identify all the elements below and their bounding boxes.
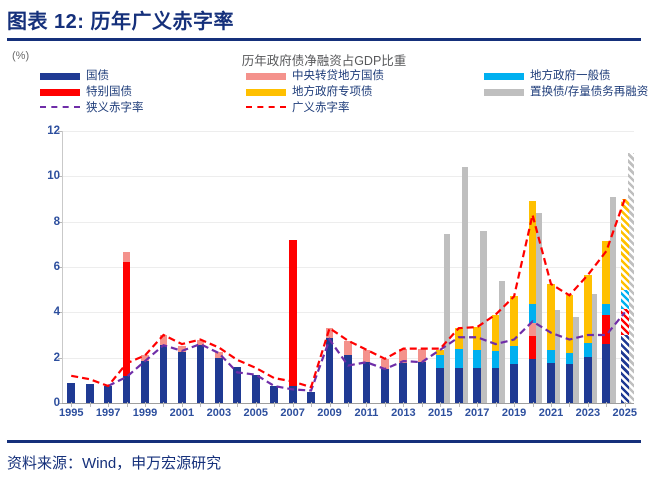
trend-line: [108, 312, 625, 390]
legend-label: 地方政府一般债: [530, 70, 611, 82]
x-tick-label: 2023: [576, 407, 600, 419]
x-tick-mark: [311, 402, 312, 407]
source-note: 资料来源：Wind，申万宏源研究: [7, 452, 221, 473]
x-tick-mark: [90, 402, 91, 407]
legend-label: 国债: [86, 70, 109, 82]
x-tick-label: 1995: [59, 407, 83, 419]
legend-column-2: 中央转贷地方国债地方政府专项债广义赤字率: [246, 68, 384, 116]
y-tick-label: 8: [20, 216, 68, 228]
y-tick-label: 10: [20, 170, 68, 182]
legend-label: 特别国债: [86, 86, 132, 98]
legend-item[interactable]: 广义赤字率: [246, 100, 384, 116]
legend-item[interactable]: 中央转贷地方国债: [246, 68, 384, 84]
y-tick-label: 12: [20, 125, 68, 137]
y-tick-label: 2: [20, 352, 68, 364]
legend-item[interactable]: 狭义赤字率: [40, 100, 144, 116]
x-tick-mark: [200, 402, 201, 407]
chart-legend: 国债特别国债狭义赤字率 中央转贷地方国债地方政府专项债广义赤字率 地方政府一般债…: [0, 68, 648, 116]
x-tick-label: 2015: [428, 407, 452, 419]
legend-label: 狭义赤字率: [86, 102, 144, 114]
x-tick-mark: [348, 402, 349, 407]
chart-subtitle: 历年政府债净融资占GDP比重: [0, 50, 648, 69]
x-tick-label: 2003: [207, 407, 231, 419]
x-tick-mark: [569, 402, 570, 407]
x-tick-label: 2007: [280, 407, 304, 419]
legend-item[interactable]: 国债: [40, 68, 144, 84]
page-title: 图表 12: 历年广义赤字率: [7, 5, 234, 34]
legend-dash-icon: [246, 106, 286, 108]
x-tick-mark: [533, 402, 534, 407]
y-tick-label: 4: [20, 306, 68, 318]
x-tick-label: 2025: [613, 407, 637, 419]
x-tick-label: 2019: [502, 407, 526, 419]
legend-item[interactable]: 地方政府专项债: [246, 84, 384, 100]
x-tick-label: 2021: [539, 407, 563, 419]
legend-label: 地方政府专项债: [292, 86, 373, 98]
header-divider: [7, 38, 641, 41]
legend-item[interactable]: 特别国债: [40, 84, 144, 100]
x-tick-label: 2017: [465, 407, 489, 419]
legend-dash-icon: [40, 106, 80, 108]
x-tick-mark: [163, 402, 164, 407]
x-axis-labels: 1995199719992001200320052007200920112013…: [62, 407, 634, 427]
footer-divider: [7, 440, 641, 443]
x-tick-label: 2013: [391, 407, 415, 419]
legend-swatch-icon: [246, 73, 286, 80]
legend-swatch-icon: [484, 89, 524, 96]
x-tick-mark: [127, 402, 128, 407]
x-tick-label: 1997: [96, 407, 120, 419]
x-tick-label: 1999: [133, 407, 157, 419]
x-tick-mark: [274, 402, 275, 407]
legend-swatch-icon: [484, 73, 524, 80]
legend-label: 中央转贷地方国债: [292, 70, 384, 82]
legend-swatch-icon: [40, 73, 80, 80]
y-tick-label: 6: [20, 261, 68, 273]
x-tick-mark: [459, 402, 460, 407]
figure-header: 图表 12: 历年广义赤字率: [0, 0, 648, 44]
legend-item[interactable]: 置换债/存量债务再融资: [484, 84, 648, 100]
chart-container: (%) 历年政府债净融资占GDP比重 国债特别国债狭义赤字率 中央转贷地方国债地…: [0, 44, 648, 438]
x-tick-label: 2009: [317, 407, 341, 419]
legend-swatch-icon: [40, 89, 80, 96]
x-tick-label: 2011: [355, 407, 379, 419]
trend-line: [71, 199, 625, 387]
legend-column-1: 国债特别国债狭义赤字率: [40, 68, 144, 116]
x-tick-label: 2001: [170, 407, 194, 419]
line-overlay: [62, 131, 634, 403]
x-tick-mark: [237, 402, 238, 407]
x-tick-mark: [422, 402, 423, 407]
legend-item[interactable]: 地方政府一般债: [484, 68, 648, 84]
legend-swatch-icon: [246, 89, 286, 96]
x-tick-mark: [606, 402, 607, 407]
x-tick-mark: [496, 402, 497, 407]
plot-area: 024681012: [62, 131, 634, 403]
legend-column-3: 地方政府一般债置换债/存量债务再融资: [484, 68, 648, 100]
x-tick-label: 2005: [243, 407, 267, 419]
legend-label: 置换债/存量债务再融资: [530, 86, 648, 98]
x-tick-mark: [385, 402, 386, 407]
legend-label: 广义赤字率: [292, 102, 350, 114]
